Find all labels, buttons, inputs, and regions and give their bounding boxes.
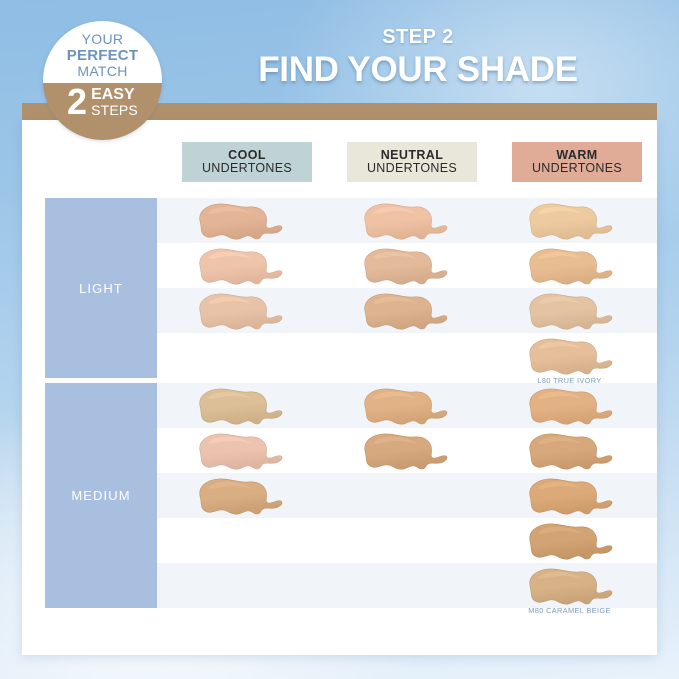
shade-swatch-icon [522,386,618,426]
shade-row: M60 NATURAL BEIGEM50 SOFT TAN [157,473,657,518]
shade-row: L70 NATURAL IVORYL90 CLASSIC BEIGEL50 FA… [157,288,657,333]
badge-line-3: MATCH [43,64,162,80]
shade-cell-empty [322,333,487,378]
shade-code-label: M80 CARAMEL BEIGE [487,606,652,615]
group-label: LIGHT [79,281,123,296]
group-label: MEDIUM [71,488,130,503]
shade-cell[interactable]: L50 FAIR BEIGE [487,288,652,333]
shade-rows: M15 BUFF BEIGEM30 HONEYM10 GOLDEN NATURA… [157,383,657,608]
undertone-pill-sub: UNDERTONES [532,162,622,176]
shade-swatch-icon [522,566,618,606]
shade-swatch-icon [522,336,618,376]
undertone-pill-name: NEUTRAL [381,149,444,163]
shade-group-medium: MEDIUMM15 BUFF BEIGEM30 HONEYM10 GOLDEN … [22,383,657,608]
badge-steps-text: EASY STEPS [91,87,138,117]
shade-cell-empty [157,563,322,608]
shade-cell[interactable]: M60 NATURAL BEIGE [157,473,322,518]
shade-chart-card: COOLUNDERTONESNEUTRALUNDERTONESWARMUNDER… [22,120,657,655]
undertone-pill-neutral[interactable]: NEUTRALUNDERTONES [347,142,477,182]
shade-swatch-icon [522,246,618,286]
shade-rows: L20 LIGHT IVORYL15 PORCELAINL10 FAIR POR… [157,198,657,378]
undertone-pill-warm[interactable]: WARMUNDERTONES [512,142,642,182]
shade-cell[interactable]: L10 FAIR PORCELAIN [487,198,652,243]
shade-row: M15 BUFF BEIGEM30 HONEYM10 GOLDEN NATURA… [157,383,657,428]
shade-swatch-icon [192,386,288,426]
shade-swatch-icon [192,291,288,331]
shade-cell-empty [322,518,487,563]
badge-steps-label: STEPS [91,103,138,117]
shade-cell[interactable]: M80 CARAMEL BEIGE [487,563,652,608]
shade-cell[interactable]: M10 GOLDEN NATURAL [487,383,652,428]
shade-cell-empty [322,563,487,608]
shade-cell[interactable]: M40 WARM NUDE [487,428,652,473]
shade-cell[interactable]: M15 BUFF BEIGE [157,383,322,428]
badge-easy-label: EASY [91,87,138,103]
shade-cell[interactable]: M30 HONEY [322,383,487,428]
group-label-panel-medium: MEDIUM [45,383,157,608]
shade-row: M20 WARM BEIGEM90 PERFECT BEIGEM40 WARM … [157,428,657,473]
badge-step-number: 2 [67,84,87,120]
shade-cell[interactable]: M70 SAND BEIGE [487,518,652,563]
badge-line-2: PERFECT [43,48,162,65]
shade-row: L20 LIGHT IVORYL15 PORCELAINL10 FAIR POR… [157,198,657,243]
undertone-header-row: COOLUNDERTONESNEUTRALUNDERTONESWARMUNDER… [22,142,657,186]
shade-swatch-icon [192,431,288,471]
shade-cell[interactable]: L15 PORCELAIN [322,198,487,243]
shade-swatch-icon [357,431,453,471]
shade-cell[interactable]: M50 SOFT TAN [487,473,652,518]
shade-cell[interactable]: M20 WARM BEIGE [157,428,322,473]
shade-row: M80 CARAMEL BEIGE [157,563,657,608]
shade-row: M70 SAND BEIGE [157,518,657,563]
shade-cell-empty [157,518,322,563]
shade-swatch-icon [522,201,618,241]
shade-cell[interactable]: L40 CLASSIC IVORY [322,243,487,288]
shade-cell[interactable]: L80 TRUE IVORY [487,333,652,378]
shade-swatch-icon [522,521,618,561]
perfect-match-badge: YOUR PERFECT MATCH 2 EASY STEPS [43,21,162,140]
shade-swatch-icon [357,201,453,241]
shade-swatch-icon [357,291,453,331]
shade-cell[interactable]: L70 NATURAL IVORY [157,288,322,333]
shade-swatch-icon [522,476,618,516]
shade-cell[interactable]: L30 GOLDEN IVORY [487,243,652,288]
shade-cell[interactable]: L60 LIGHT NUDE [157,243,322,288]
shade-cell-empty [322,473,487,518]
badge-bottom-text: 2 EASY STEPS [43,84,162,120]
shade-swatch-icon [522,431,618,471]
shade-cell[interactable]: L90 CLASSIC BEIGE [322,288,487,333]
group-label-panel-light: LIGHT [45,198,157,378]
shade-swatch-icon [192,476,288,516]
undertone-pill-name: WARM [556,149,597,163]
undertone-pill-sub: UNDERTONES [367,162,457,176]
undertone-pill-name: COOL [228,149,266,163]
shade-swatch-icon [192,201,288,241]
shade-row: L60 LIGHT NUDEL40 CLASSIC IVORYL30 GOLDE… [157,243,657,288]
shade-cell[interactable]: L20 LIGHT IVORY [157,198,322,243]
shade-swatch-icon [522,291,618,331]
shade-swatch-icon [357,246,453,286]
undertone-pill-cool[interactable]: COOLUNDERTONES [182,142,312,182]
shade-row: L80 TRUE IVORY [157,333,657,378]
undertone-pill-sub: UNDERTONES [202,162,292,176]
shade-cell-empty [157,333,322,378]
shade-swatch-icon [357,386,453,426]
shade-swatch-icon [192,246,288,286]
badge-line-1: YOUR [43,32,162,48]
shade-group-light: LIGHTL20 LIGHT IVORYL15 PORCELAINL10 FAI… [22,198,657,378]
shade-cell[interactable]: M90 PERFECT BEIGE [322,428,487,473]
badge-top-text: YOUR PERFECT MATCH [43,32,162,80]
